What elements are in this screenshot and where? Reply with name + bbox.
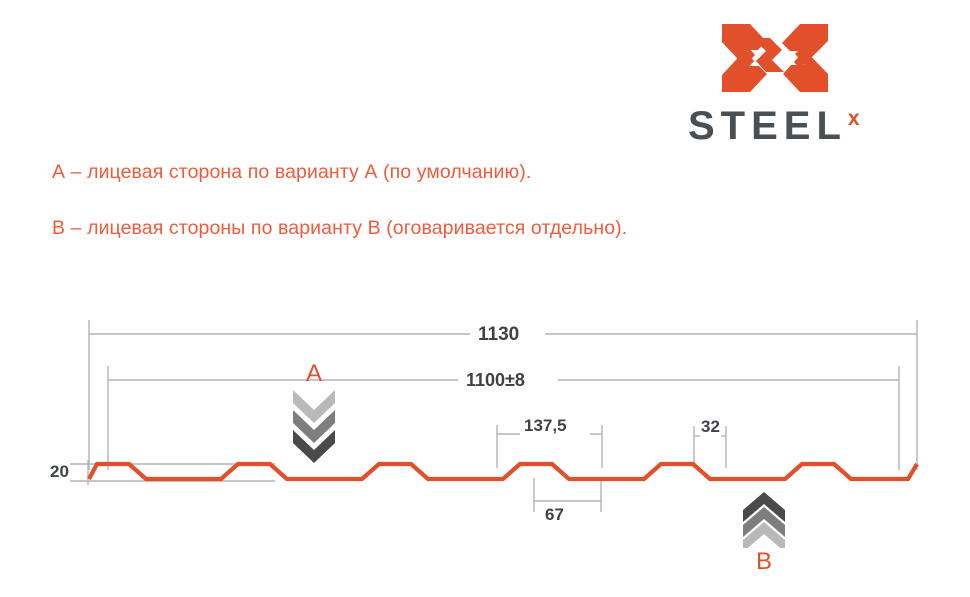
side-b-direction-marker: В xyxy=(736,492,792,574)
chevron-up-icon xyxy=(743,492,785,553)
dimension-label-overall-width: 1130 xyxy=(478,324,519,346)
chevron-down-icon xyxy=(293,390,335,469)
dimension-label-rib-pitch: 137,5 xyxy=(524,416,567,436)
dimension-label-profile-height: 20 xyxy=(50,462,69,482)
trapezoidal-profile xyxy=(89,464,917,479)
dimension-label-rib-crest-width: 32 xyxy=(701,417,720,437)
profile-technical-drawing xyxy=(0,0,970,597)
dimension-label-effective-width: 1100±8 xyxy=(466,370,525,391)
dimension-label-valley-width: 67 xyxy=(545,505,564,525)
side-a-direction-marker: А xyxy=(286,362,342,472)
side-a-letter: А xyxy=(286,360,342,388)
side-b-letter: В xyxy=(736,548,792,576)
